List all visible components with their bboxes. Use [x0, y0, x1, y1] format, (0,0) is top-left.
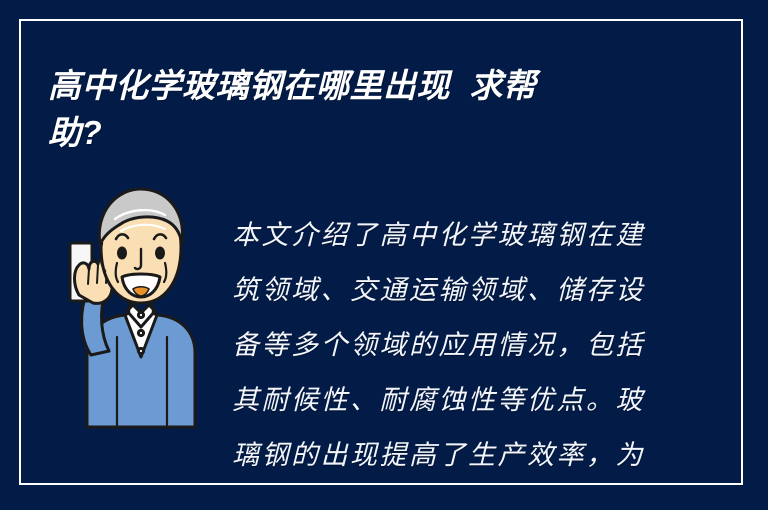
shirt-button-1 — [138, 312, 143, 317]
article-summary-line-3: 备等多个领域的应用情况，包括 — [232, 318, 652, 373]
finger-line-2 — [97, 265, 98, 283]
article-summary: 本文介绍了高中化学玻璃钢在建 筑领域、交通运输领域、储存设 备等多个领域的应用情… — [232, 208, 652, 483]
finger-line-1 — [88, 269, 89, 284]
article-summary-line-4: 其耐候性、耐腐蚀性等优点。玻 — [232, 373, 652, 428]
elderly-man-illustration — [55, 185, 205, 430]
shirt-button-2 — [138, 330, 143, 335]
eye-right — [155, 247, 165, 260]
article-summary-line-1: 本文介绍了高中化学玻璃钢在建 — [232, 208, 652, 263]
article-summary-line-2: 筑领域、交通运输领域、储存设 — [232, 263, 652, 318]
page-title-line-1: 高中化学玻璃钢在哪里出现 求帮 — [48, 62, 648, 109]
page-title: 高中化学玻璃钢在哪里出现 求帮 助? — [48, 62, 648, 156]
eye-left — [117, 247, 127, 260]
article-summary-line-5: 璃钢的出现提高了生产效率，为 — [232, 428, 652, 483]
poster-canvas: 高中化学玻璃钢在哪里出现 求帮 助? — [0, 0, 768, 510]
page-title-line-2: 助? — [48, 109, 648, 156]
shirt-button-3 — [138, 348, 143, 353]
